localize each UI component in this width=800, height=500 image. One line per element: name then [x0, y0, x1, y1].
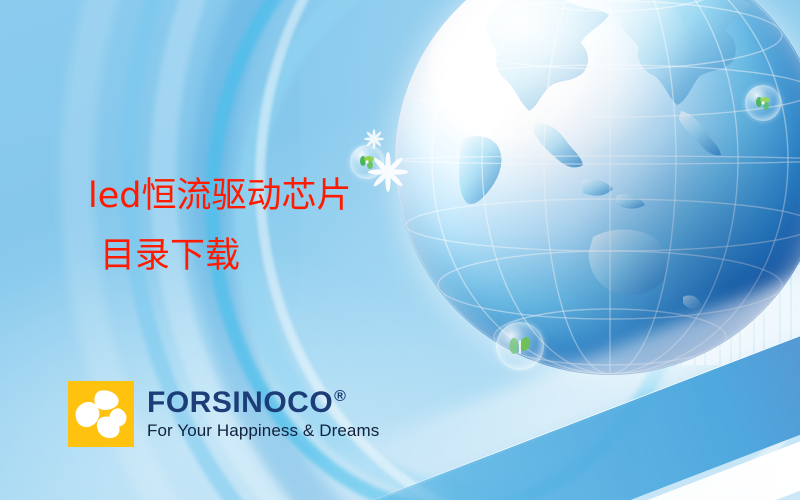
diagonal-band-shadow [467, 390, 800, 500]
sparkle-flower-large-icon [366, 150, 410, 194]
logo-tagline: For Your Happiness & Dreams [147, 421, 379, 441]
logo-mark [68, 381, 134, 447]
city-skyline-icon [630, 185, 800, 365]
four-petal-pinwheel-icon [68, 381, 134, 447]
sparkle-flower-small-icon [363, 128, 385, 150]
globe-sphere [395, 0, 800, 375]
city-skyline-svg [630, 185, 800, 365]
logo-wordmark-text: FORSINOCO [147, 388, 333, 418]
globe-shading [395, 0, 800, 375]
headline-line-1: led恒流驱动芯片 [88, 166, 351, 226]
sparkle-large-svg [366, 150, 410, 194]
headline: led恒流驱动芯片 目录下载 [88, 166, 351, 286]
logo-text-block: FORSINOCO ® For Your Happiness & Dreams [147, 388, 379, 441]
logo-wordmark: FORSINOCO ® [147, 388, 379, 418]
bubble-left-contents-svg [350, 145, 384, 179]
diagonal-band-white [352, 330, 800, 500]
bubble-right-contents-svg [745, 85, 781, 121]
diagonal-band-glow [289, 171, 800, 500]
sparkle-small-svg [363, 128, 385, 150]
promo-banner: led恒流驱动芯片 目录下载 FORSINOCO ® For Your Happ… [0, 0, 800, 500]
headline-line-2: 目录下载 [88, 226, 351, 286]
bubble-leaf-center [496, 322, 544, 370]
globe-highlight [429, 0, 696, 169]
registered-trademark-icon: ® [334, 389, 346, 405]
diagonal-band-blue [314, 244, 800, 500]
bubble-pinwheel-right [745, 85, 781, 121]
globe-geometry-svg [395, 0, 800, 375]
bubble-center-contents-svg [496, 322, 544, 370]
world-globe [395, 0, 800, 375]
company-logo[interactable]: FORSINOCO ® For Your Happiness & Dreams [68, 381, 379, 447]
globe-rim-light [395, 0, 800, 375]
bubble-pinwheel-left [350, 145, 384, 179]
diagonal-band-hairline [329, 233, 800, 500]
